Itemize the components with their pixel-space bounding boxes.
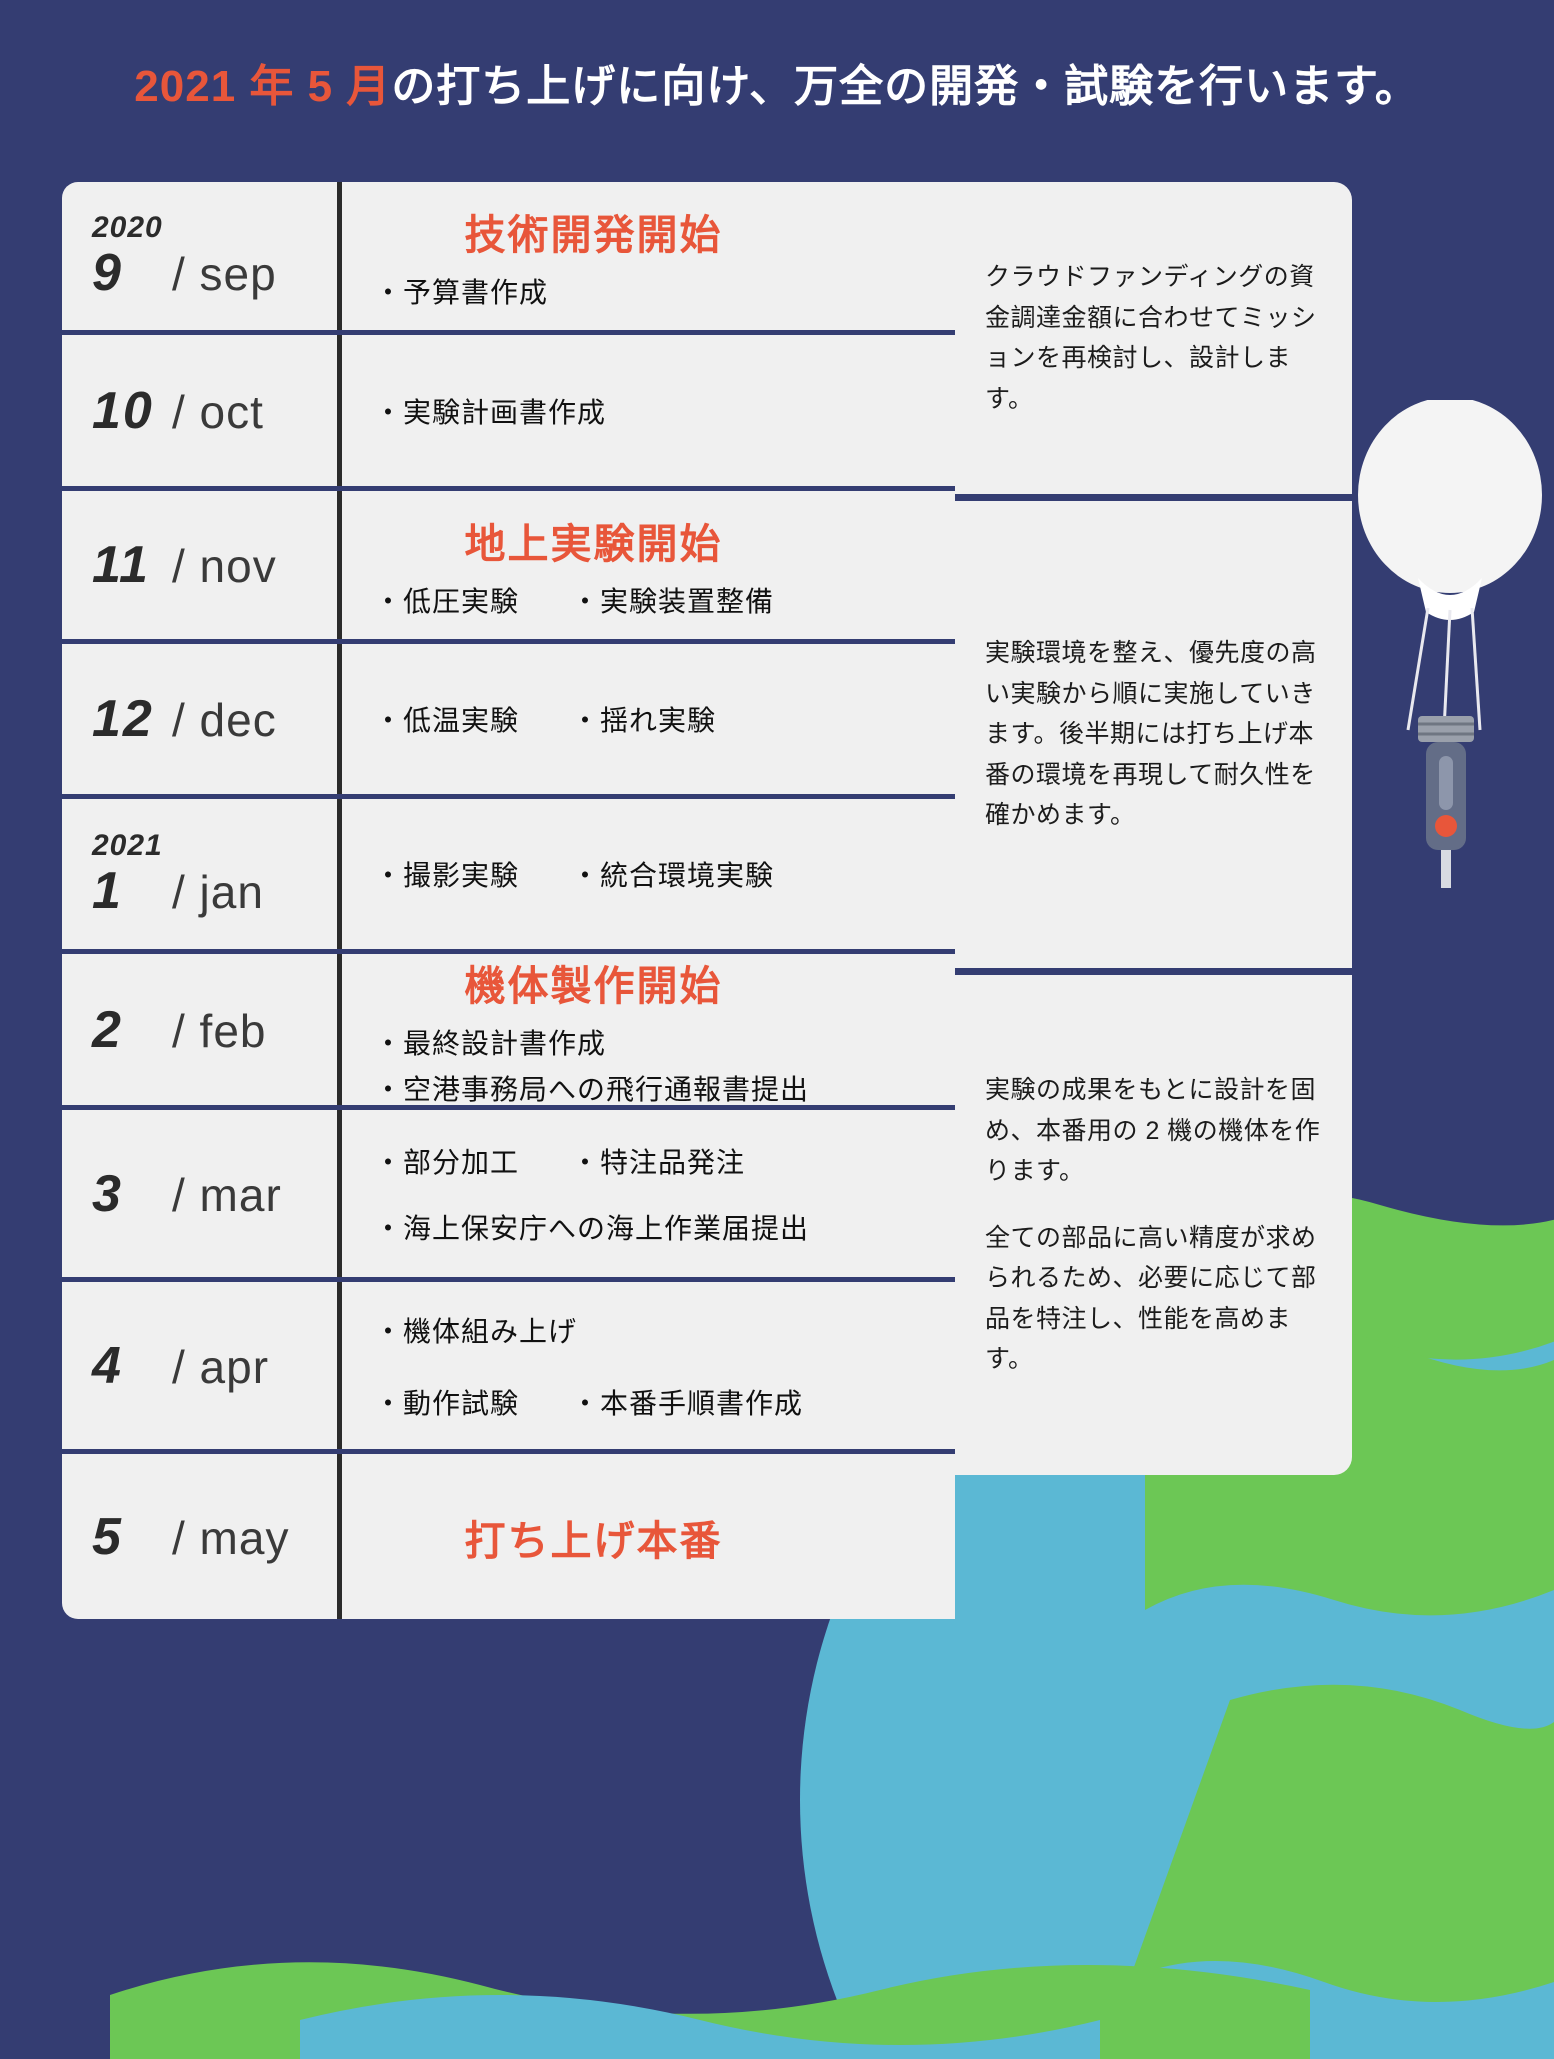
task-line: ・機体組み上げ [374, 1310, 933, 1350]
task-line: ・空港事務局への飛行通報書提出 [374, 1068, 933, 1108]
row-date-cell: 2020 9 / sep [62, 182, 342, 330]
table-row[interactable]: 4 / apr ・機体組み上げ ・動作試験 ・本番手順書作成 [62, 1282, 955, 1454]
row-body-cell: 技術開発開始 ・予算書作成 [342, 182, 955, 330]
row-year: 2021 [92, 831, 337, 861]
row-month-number: 9 [92, 247, 172, 299]
task-item: ・本番手順書作成 [571, 1382, 803, 1422]
row-month-abbr: / nov [172, 543, 277, 589]
note-card: 実験環境を整え、優先度の高い実験から順に実施していきます。後半期には打ち上げ本番… [955, 501, 1352, 968]
task-line: ・低温実験 ・揺れ実験 [374, 699, 933, 739]
note-divider [955, 968, 1352, 975]
task-item: ・最終設計書作成 [374, 1022, 606, 1062]
row-body-cell: ・低温実験 ・揺れ実験 [342, 644, 955, 794]
row-month-number: 4 [92, 1340, 172, 1392]
balloon-cord-mid [1444, 610, 1450, 730]
page-title: 2021 年 5 月の打ち上げに向け、万全の開発・試験を行います。 [0, 50, 1554, 114]
row-task-list: ・最終設計書作成 ・空港事務局への飛行通報書提出 [374, 1022, 933, 1108]
note-card: 実験の成果をもとに設計を固め、本番用の 2 機の機体を作ります。 全ての部品に高… [955, 975, 1352, 1475]
row-task-list: ・予算書作成 [374, 271, 933, 311]
table-row[interactable]: 12 / dec ・低温実験 ・揺れ実験 [62, 644, 955, 799]
note-card: クラウドファンディングの資金調達金額に合わせてミッションを再検討し、設計します。 [955, 182, 1352, 494]
note-paragraph: 実験の成果をもとに設計を固め、本番用の 2 機の機体を作ります。 [985, 1070, 1322, 1192]
task-item: ・空港事務局への飛行通報書提出 [374, 1068, 809, 1108]
poster-root: 2020 9 / sep 技術開発開始 ・予算書作成 [0, 0, 1554, 2059]
row-month-number: 11 [92, 539, 172, 591]
task-item: ・実験装置整備 [571, 580, 774, 620]
row-month: 9 / sep [92, 247, 337, 299]
row-month-abbr: / feb [172, 1008, 267, 1054]
row-month-abbr: / mar [172, 1172, 282, 1218]
row-month: 11 / nov [92, 539, 337, 591]
row-month-abbr: / sep [172, 251, 277, 297]
task-line: ・撮影実験 ・統合環境実験 [374, 854, 933, 894]
row-body-cell: 打ち上げ本番 [342, 1454, 955, 1619]
row-body-cell: ・機体組み上げ ・動作試験 ・本番手順書作成 [342, 1282, 955, 1449]
timeline-table: 2020 9 / sep 技術開発開始 ・予算書作成 [62, 182, 955, 1619]
row-task-list: ・低圧実験 ・実験装置整備 [374, 580, 933, 620]
row-date-cell: 3 / mar [62, 1110, 342, 1277]
row-task-list: ・撮影実験 ・統合環境実験 [374, 854, 933, 894]
row-month: 5 / may [92, 1511, 337, 1563]
task-line: ・動作試験 ・本番手順書作成 [374, 1382, 933, 1422]
task-item: ・低温実験 [374, 699, 519, 739]
earth-ocean-bottom [300, 1995, 1100, 2059]
task-line: ・低圧実験 ・実験装置整備 [374, 580, 933, 620]
table-row[interactable]: 2 / feb 機体製作開始 ・最終設計書作成 ・空港事務局への飛行通報書提出 [62, 954, 955, 1110]
table-row[interactable]: 11 / nov 地上実験開始 ・低圧実験 ・実験装置整備 [62, 491, 955, 644]
row-date-cell: 12 / dec [62, 644, 342, 794]
row-body-cell: 地上実験開始 ・低圧実験 ・実験装置整備 [342, 491, 955, 639]
row-month: 3 / mar [92, 1168, 337, 1220]
task-item: ・機体組み上げ [374, 1310, 577, 1350]
row-year: 2020 [92, 213, 337, 243]
row-task-list: ・部分加工 ・特注品発注 ・海上保安庁への海上作業届提出 [374, 1141, 933, 1247]
task-line: ・実験計画書作成 [374, 391, 933, 431]
task-line: ・部分加工 ・特注品発注 [374, 1141, 933, 1181]
task-item: ・統合環境実験 [571, 854, 774, 894]
row-month-abbr: / oct [172, 389, 264, 435]
task-item: ・低圧実験 [374, 580, 519, 620]
row-month: 4 / apr [92, 1340, 337, 1392]
row-body-cell: ・部分加工 ・特注品発注 ・海上保安庁への海上作業届提出 [342, 1110, 955, 1277]
page-title-highlight: 2021 年 5 月 [134, 62, 391, 111]
earth-land-3 [1130, 1685, 1554, 2002]
row-month-number: 3 [92, 1168, 172, 1220]
row-date-cell: 5 / may [62, 1454, 342, 1619]
row-month-abbr: / may [172, 1515, 289, 1561]
row-date-cell: 2 / feb [62, 954, 342, 1105]
balloon-cord-left [1408, 608, 1428, 730]
row-month: 2 / feb [92, 1004, 337, 1056]
task-item: ・特注品発注 [571, 1141, 745, 1181]
payload-window [1439, 756, 1453, 810]
row-month-number: 10 [92, 385, 172, 437]
row-task-list: ・機体組み上げ ・動作試験 ・本番手順書作成 [374, 1310, 933, 1422]
row-date-cell: 11 / nov [62, 491, 342, 639]
payload-indicator [1435, 815, 1457, 837]
note-paragraph: 全ての部品に高い精度が求められるため、必要に応じて部品を特注し、性能を高めます。 [985, 1218, 1322, 1380]
task-item: ・揺れ実験 [571, 699, 716, 739]
row-date-cell: 4 / apr [62, 1282, 342, 1449]
row-phase-heading: 打ち上げ本番 [374, 1507, 933, 1567]
row-month: 1 / jan [92, 865, 337, 917]
balloon-cord-right [1472, 608, 1480, 730]
balloon-envelope [1358, 400, 1542, 593]
note-paragraph: クラウドファンディングの資金調達金額に合わせてミッションを再検討し、設計します。 [985, 257, 1322, 419]
task-item: ・海上保安庁への海上作業届提出 [374, 1207, 809, 1247]
task-item: ・予算書作成 [374, 271, 548, 311]
row-date-cell: 10 / oct [62, 335, 342, 486]
task-line: ・予算書作成 [374, 271, 933, 311]
task-line: ・海上保安庁への海上作業届提出 [374, 1207, 933, 1247]
row-month-number: 5 [92, 1511, 172, 1563]
payload-mast [1441, 850, 1451, 888]
balloon-illustration [1340, 400, 1554, 980]
task-item: ・撮影実験 [374, 854, 519, 894]
row-month-abbr: / apr [172, 1344, 269, 1390]
row-month-abbr: / dec [172, 697, 277, 743]
row-month-number: 1 [92, 865, 172, 917]
task-item: ・実験計画書作成 [374, 391, 606, 431]
earth-land-bottom [110, 1962, 1310, 2059]
notes-column: クラウドファンディングの資金調達金額に合わせてミッションを再検討し、設計します。… [955, 182, 1352, 1475]
row-month: 12 / dec [92, 693, 337, 745]
task-item: ・部分加工 [374, 1141, 519, 1181]
task-item: ・動作試験 [374, 1382, 519, 1422]
row-task-list: ・実験計画書作成 [374, 391, 933, 431]
row-body-cell: 機体製作開始 ・最終設計書作成 ・空港事務局への飛行通報書提出 [342, 954, 955, 1105]
table-row[interactable]: 5 / may 打ち上げ本番 [62, 1454, 955, 1619]
note-divider [955, 494, 1352, 501]
row-month-number: 12 [92, 693, 172, 745]
task-line: ・最終設計書作成 [374, 1022, 933, 1062]
table-row[interactable]: 3 / mar ・部分加工 ・特注品発注 ・海上保安庁への海上作業届提出 [62, 1110, 955, 1282]
table-row[interactable]: 10 / oct ・実験計画書作成 [62, 335, 955, 491]
row-body-cell: ・実験計画書作成 [342, 335, 955, 486]
row-date-cell: 2021 1 / jan [62, 799, 342, 949]
row-body-cell: ・撮影実験 ・統合環境実験 [342, 799, 955, 949]
row-phase-heading: 地上実験開始 [374, 510, 933, 570]
row-phase-heading: 機体製作開始 [374, 952, 933, 1012]
table-row[interactable]: 2021 1 / jan ・撮影実験 ・統合環境実験 [62, 799, 955, 954]
row-month: 10 / oct [92, 385, 337, 437]
table-row[interactable]: 2020 9 / sep 技術開発開始 ・予算書作成 [62, 182, 955, 335]
note-paragraph: 実験環境を整え、優先度の高い実験から順に実施していきます。後半期には打ち上げ本番… [985, 633, 1322, 836]
timeline-board: 2020 9 / sep 技術開発開始 ・予算書作成 [62, 182, 1352, 1619]
payload-antenna-box [1418, 716, 1474, 742]
row-month-abbr: / jan [172, 869, 264, 915]
page-title-rest: の打ち上げに向け、万全の開発・試験を行います。 [391, 62, 1419, 111]
row-month-number: 2 [92, 1004, 172, 1056]
row-phase-heading: 技術開発開始 [374, 201, 933, 261]
row-task-list: ・低温実験 ・揺れ実験 [374, 699, 933, 739]
